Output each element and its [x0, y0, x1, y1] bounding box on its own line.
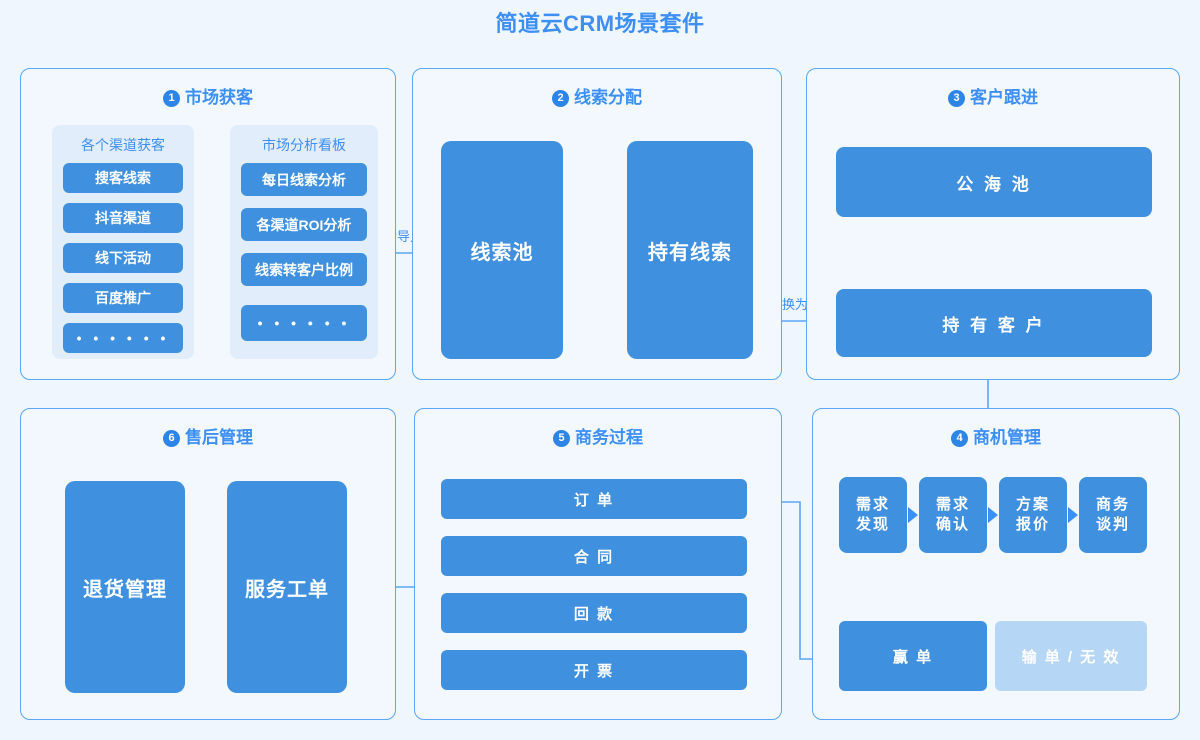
panel-5-header: 5商务过程 [415, 423, 781, 448]
box-lead-pool[interactable]: 线索池 [441, 141, 563, 359]
outcome-won[interactable]: 赢 单 [839, 621, 987, 691]
panel-opportunity-management: 4商机管理 需求 发现 需求 确认 方案 报价 商务 谈判 赢 单 输 单 / … [812, 408, 1180, 720]
item-invoice[interactable]: 开 票 [441, 650, 747, 690]
panel-aftersales-management: 6售后管理 退货管理 服务工单 [20, 408, 396, 720]
panel-6-title: 售后管理 [185, 428, 253, 447]
box-service-ticket[interactable]: 服务工单 [227, 481, 347, 693]
item-offline-event[interactable]: 线下活动 [63, 243, 183, 273]
panel-3-title: 客户跟进 [970, 88, 1038, 107]
panel-3-header: 3客户跟进 [807, 83, 1179, 108]
item-order[interactable]: 订 单 [441, 479, 747, 519]
box-public-pool[interactable]: 公 海 池 [836, 147, 1152, 217]
box-owned-customers[interactable]: 持 有 客 户 [836, 289, 1152, 357]
item-baidu-promotion[interactable]: 百度推广 [63, 283, 183, 313]
item-payment[interactable]: 回 款 [441, 593, 747, 633]
item-douyin-channel[interactable]: 抖音渠道 [63, 203, 183, 233]
item-lead-conversion-rate[interactable]: 线索转客户比例 [241, 253, 367, 286]
box-owned-leads[interactable]: 持有线索 [627, 141, 753, 359]
box-return-management[interactable]: 退货管理 [65, 481, 185, 693]
item-more-analysis[interactable]: • • • • • • [241, 305, 367, 341]
subgroup-a-title: 各个渠道获客 [52, 135, 194, 155]
panel-5-badge: 5 [553, 430, 570, 447]
outcome-lost-invalid[interactable]: 输 单 / 无 效 [995, 621, 1147, 691]
panel-2-header: 2线索分配 [413, 83, 781, 108]
panel-2-title: 线索分配 [574, 88, 642, 107]
panel-3-badge: 3 [948, 90, 965, 107]
panel-1-badge: 1 [163, 90, 180, 107]
panel-2-badge: 2 [552, 90, 569, 107]
subgroup-market-analysis: 市场分析看板 每日线索分析 各渠道ROI分析 线索转客户比例 • • • • •… [230, 125, 378, 359]
panel-lead-allocation: 2线索分配 线索池 持有线索 [412, 68, 782, 380]
panel-market-acquisition: 1市场获客 各个渠道获客 搜客线索 抖音渠道 线下活动 百度推广 • • • •… [20, 68, 396, 380]
panel-customer-followup: 3客户跟进 公 海 池 持 有 客 户 [806, 68, 1180, 380]
panel-6-header: 6售后管理 [21, 423, 395, 448]
subgroup-channel-acquisition: 各个渠道获客 搜客线索 抖音渠道 线下活动 百度推广 • • • • • • [52, 125, 194, 359]
panel-5-title: 商务过程 [575, 428, 643, 447]
page-title: 简道云CRM场景套件 [0, 6, 1200, 38]
item-contract[interactable]: 合 同 [441, 536, 747, 576]
crm-flow-diagram: 简道云CRM场景套件 [0, 0, 1200, 740]
panel-6-badge: 6 [163, 430, 180, 447]
subgroup-b-title: 市场分析看板 [230, 135, 378, 155]
panel-business-process: 5商务过程 订 单 合 同 回 款 开 票 [414, 408, 782, 720]
item-lead-search[interactable]: 搜客线索 [63, 163, 183, 193]
panel-1-header: 1市场获客 [21, 83, 395, 108]
panel-1-title: 市场获客 [185, 88, 253, 107]
item-more-channels[interactable]: • • • • • • [63, 323, 183, 353]
item-channel-roi-analysis[interactable]: 各渠道ROI分析 [241, 208, 367, 241]
item-daily-lead-analysis[interactable]: 每日线索分析 [241, 163, 367, 196]
